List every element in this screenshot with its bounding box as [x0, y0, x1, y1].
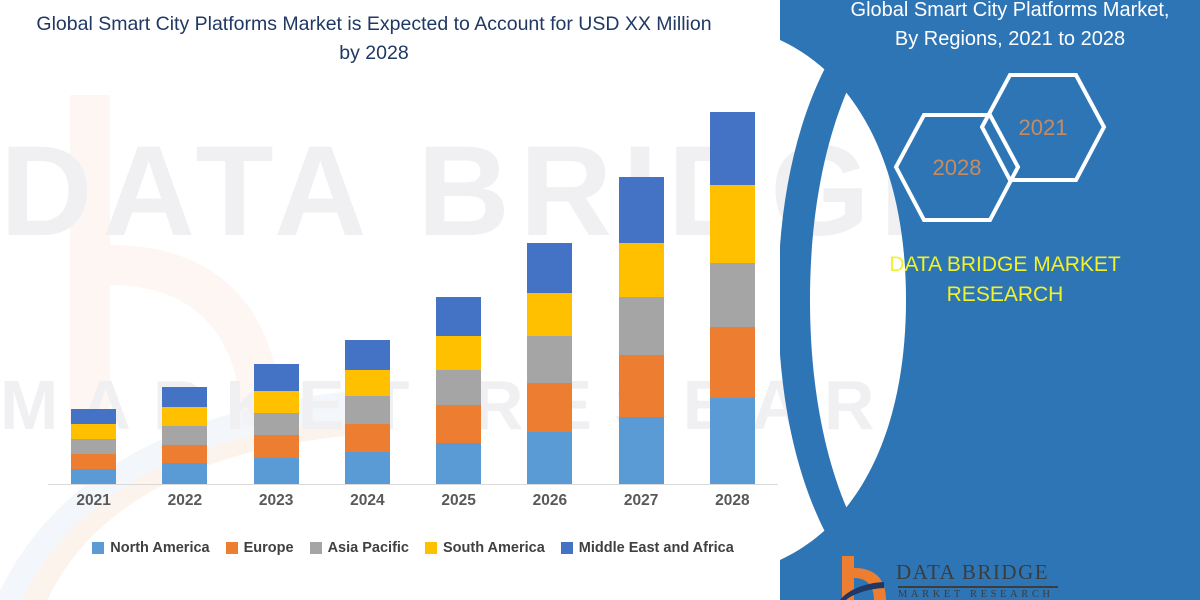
- stacked-bar-chart-plot: [48, 110, 778, 485]
- x-axis-tick-2022: 2022: [140, 492, 230, 510]
- stacked-bar[interactable]: [71, 409, 116, 484]
- bar-segment[interactable]: [527, 243, 572, 293]
- bar-group-2023[interactable]: [231, 110, 321, 484]
- bar-segment[interactable]: [254, 413, 299, 435]
- legend-label: North America: [110, 540, 209, 556]
- legend-item[interactable]: Asia Pacific: [310, 540, 409, 556]
- x-axis-tick-2028: 2028: [687, 492, 777, 510]
- bar-group-2022[interactable]: [140, 110, 230, 484]
- bar-segment[interactable]: [162, 387, 207, 408]
- bar-segment[interactable]: [527, 293, 572, 336]
- bar-segment[interactable]: [254, 458, 299, 484]
- panel-title-line: By Regions, 2021 to 2028: [820, 25, 1200, 54]
- legend-item[interactable]: North America: [92, 540, 209, 556]
- hexagon-2021-label: 2021: [978, 115, 1108, 141]
- x-axis-tick-2026: 2026: [505, 492, 595, 510]
- page-title-line-1: Global Smart City Platforms Market is Ex…: [36, 13, 619, 35]
- stacked-bar[interactable]: [710, 112, 755, 484]
- bar-group-2028[interactable]: [687, 110, 777, 484]
- bar-segment[interactable]: [619, 243, 664, 297]
- logo-divider: [898, 586, 1058, 588]
- x-axis-tick-2027: 2027: [596, 492, 686, 510]
- bar-segment[interactable]: [619, 297, 664, 355]
- legend-swatch-icon: [226, 542, 238, 554]
- company-logo: DATA BRIDGE MARKET RESEARCH: [840, 556, 1180, 600]
- bar-segment[interactable]: [345, 452, 390, 484]
- page-title: Global Smart City Platforms Market is Ex…: [24, 10, 724, 69]
- bar-segment[interactable]: [71, 409, 116, 424]
- legend-label: Middle East and Africa: [579, 540, 734, 556]
- legend-label: South America: [443, 540, 545, 556]
- brand-name-line-2: RESEARCH: [810, 280, 1200, 310]
- chart-panel: Global Smart City Platforms Market is Ex…: [0, 0, 900, 600]
- stacked-bar[interactable]: [436, 297, 481, 484]
- panel-title: Global Smart City Platforms Market, By R…: [780, 0, 1200, 54]
- bar-segment[interactable]: [254, 364, 299, 390]
- legend-swatch-icon: [92, 542, 104, 554]
- bar-segment[interactable]: [254, 391, 299, 413]
- year-hexagons: 2028 2021: [780, 78, 1200, 228]
- legend-item[interactable]: Middle East and Africa: [561, 540, 734, 556]
- x-axis-tick-2025: 2025: [414, 492, 504, 510]
- bar-segment[interactable]: [71, 454, 116, 469]
- bar-segment[interactable]: [710, 185, 755, 264]
- legend-swatch-icon: [310, 542, 322, 554]
- bar-group-2024[interactable]: [322, 110, 412, 484]
- legend-swatch-icon: [425, 542, 437, 554]
- bar-segment[interactable]: [345, 424, 390, 452]
- x-axis-tick-2021: 2021: [49, 492, 139, 510]
- bar-segment[interactable]: [162, 426, 207, 445]
- stacked-bar[interactable]: [527, 243, 572, 484]
- bar-segment[interactable]: [71, 469, 116, 484]
- bar-series-container: [48, 110, 778, 484]
- x-axis-tick-2023: 2023: [231, 492, 321, 510]
- bar-segment[interactable]: [619, 417, 664, 484]
- bar-segment[interactable]: [436, 297, 481, 336]
- bar-segment[interactable]: [345, 396, 390, 424]
- bar-segment[interactable]: [436, 336, 481, 370]
- legend-item[interactable]: South America: [425, 540, 545, 556]
- legend-label: Asia Pacific: [328, 540, 409, 556]
- bar-segment[interactable]: [254, 435, 299, 457]
- bar-segment[interactable]: [710, 398, 755, 484]
- panel-title-line-cut: Global Smart City Platforms Market,: [820, 0, 1200, 25]
- legend-label: Europe: [244, 540, 294, 556]
- bar-segment[interactable]: [619, 177, 664, 242]
- bar-group-2027[interactable]: [596, 110, 686, 484]
- bar-segment[interactable]: [162, 407, 207, 426]
- bar-segment[interactable]: [345, 340, 390, 370]
- chart-legend: North AmericaEuropeAsia PacificSouth Ame…: [48, 540, 778, 556]
- bar-segment[interactable]: [436, 405, 481, 442]
- bar-segment[interactable]: [436, 443, 481, 484]
- bar-group-2025[interactable]: [414, 110, 504, 484]
- bar-segment[interactable]: [71, 424, 116, 439]
- bar-segment[interactable]: [527, 432, 572, 484]
- bar-segment[interactable]: [436, 370, 481, 406]
- logo-subtitle: MARKET RESEARCH: [898, 589, 1054, 600]
- brand-name: DATA BRIDGE MARKET RESEARCH: [780, 250, 1200, 311]
- hexagon-2021: 2021: [978, 70, 1108, 185]
- stacked-bar[interactable]: [345, 340, 390, 484]
- bar-group-2021[interactable]: [49, 110, 139, 484]
- bar-segment[interactable]: [71, 439, 116, 454]
- x-axis-line: [48, 484, 778, 485]
- infographic-root: DATA BRIDGE MARKET RESEARCH Global Smart…: [0, 0, 1200, 600]
- bar-segment[interactable]: [162, 445, 207, 464]
- bar-segment[interactable]: [527, 383, 572, 432]
- stacked-bar[interactable]: [619, 177, 664, 484]
- x-axis-tick-labels: 20212022202320242025202620272028: [48, 492, 778, 510]
- bar-segment[interactable]: [345, 370, 390, 396]
- stacked-bar[interactable]: [162, 387, 207, 484]
- bar-segment[interactable]: [527, 336, 572, 383]
- legend-swatch-icon: [561, 542, 573, 554]
- bar-segment[interactable]: [710, 263, 755, 327]
- bar-segment[interactable]: [710, 112, 755, 185]
- brand-panel: Global Smart City Platforms Market, By R…: [780, 0, 1200, 600]
- bar-segment[interactable]: [162, 463, 207, 484]
- brand-name-line-1: DATA BRIDGE MARKET: [810, 250, 1200, 280]
- bar-segment[interactable]: [619, 355, 664, 417]
- logo-text: DATA BRIDGE: [896, 560, 1049, 585]
- x-axis-tick-2024: 2024: [322, 492, 412, 510]
- stacked-bar[interactable]: [254, 364, 299, 484]
- bar-group-2026[interactable]: [505, 110, 595, 484]
- legend-item[interactable]: Europe: [226, 540, 294, 556]
- bar-segment[interactable]: [710, 327, 755, 398]
- data-bridge-b-mark-icon: [840, 556, 888, 600]
